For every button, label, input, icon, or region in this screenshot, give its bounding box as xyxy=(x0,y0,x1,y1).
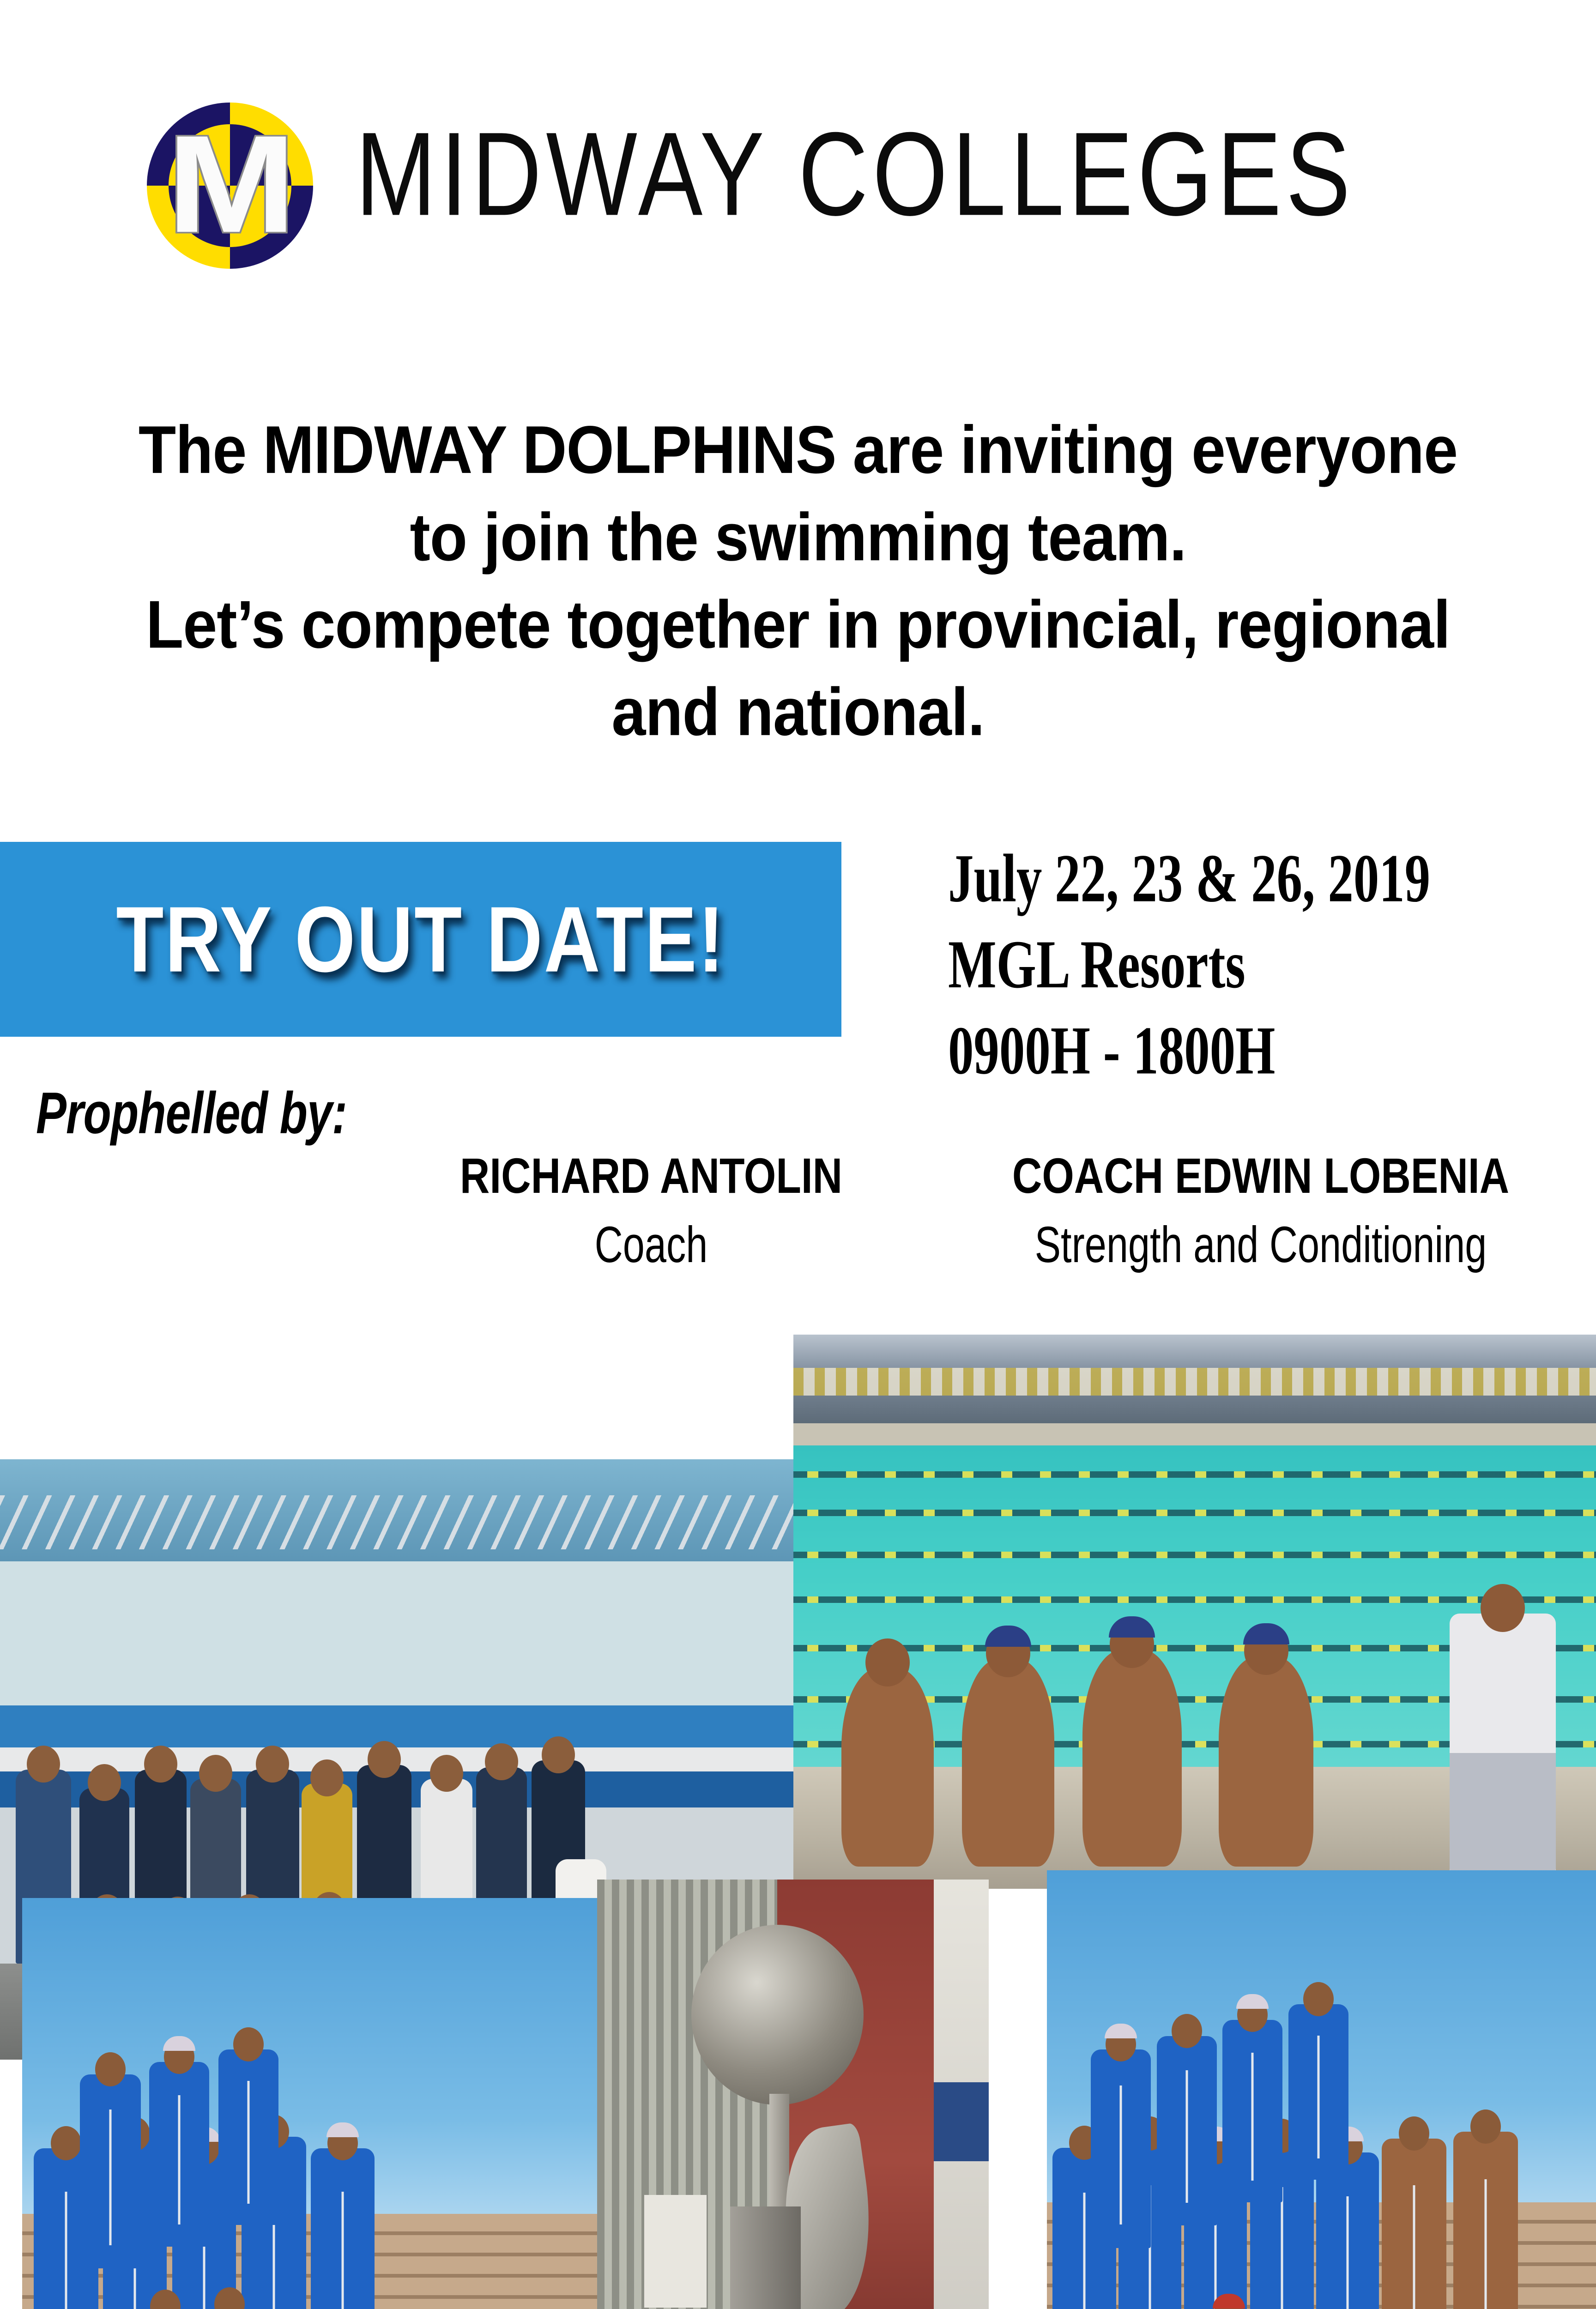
event-venue: MGL Resorts xyxy=(948,922,1485,1008)
team-member-head xyxy=(368,1741,401,1778)
headline-block: The MIDWAY DOLPHINS are inviting everyon… xyxy=(46,406,1550,756)
logo-letter-m: M xyxy=(147,103,313,267)
credit-person-1-role: Coach xyxy=(417,1216,885,1274)
swimmer-head xyxy=(865,1638,910,1686)
photo-team-blue-jackets-right xyxy=(1047,1870,1596,2309)
headline-line-3: Let’s compete together in provincial, re… xyxy=(46,581,1550,668)
coach-pants xyxy=(1450,1753,1556,1872)
team-member-head xyxy=(199,1755,232,1792)
team-member-jacket xyxy=(311,2148,375,2309)
credit-person-1: RICHARD ANTOLIN Coach xyxy=(397,1151,905,1269)
team-member-head xyxy=(144,1746,177,1783)
coach-figure xyxy=(1450,1614,1556,1872)
coach-head xyxy=(1481,1584,1525,1632)
team-member-jacket xyxy=(80,2074,141,2268)
pool-lane-rope xyxy=(793,1596,1596,1603)
pool-pennant-flags xyxy=(793,1368,1596,1396)
photo-team-blue-jackets-left xyxy=(22,1898,599,2309)
team-member-jacket xyxy=(218,2049,278,2225)
headline-line-4: and national. xyxy=(46,669,1550,756)
swimmer-figure xyxy=(1453,2132,1518,2309)
team-member-jacket xyxy=(149,2062,209,2247)
team-member-head xyxy=(95,2052,126,2086)
photo-collage xyxy=(0,1321,1596,2309)
team-member-head xyxy=(1303,1982,1334,2016)
prophelled-by-label: Prophelled by: xyxy=(36,1084,347,1143)
team-member-head xyxy=(542,1736,575,1773)
team-member-head xyxy=(256,1746,289,1783)
photo-swimmers-at-pool xyxy=(793,1335,1596,1889)
team-member-head xyxy=(430,1755,463,1792)
pool-lane-rope xyxy=(793,1510,1596,1516)
wall-stripe xyxy=(0,1705,793,1747)
pool-lane-rope xyxy=(793,1552,1596,1558)
team-member-jacket xyxy=(1157,2036,1217,2225)
swimmer-figure xyxy=(841,1668,934,1867)
trophy-plaque xyxy=(730,2206,801,2309)
swimmer-figure xyxy=(1082,1650,1182,1867)
midway-colleges-logo-icon: M xyxy=(147,103,313,269)
team-member-head xyxy=(27,1746,60,1783)
credit-person-1-name: RICHARD ANTOLIN xyxy=(415,1148,888,1204)
pool-far-deck xyxy=(793,1423,1596,1445)
swimmer-figure xyxy=(962,1659,1054,1867)
team-member-jacket xyxy=(1091,2049,1151,2248)
team-member-head xyxy=(1399,2116,1429,2151)
credit-person-2: COACH EDWIN LOBENIA Strength and Conditi… xyxy=(933,1151,1589,1269)
team-member-jacket xyxy=(1222,2020,1282,2202)
team-member-head xyxy=(88,1764,121,1801)
trophy-certificate-card xyxy=(644,2195,707,2308)
team-member-head xyxy=(51,2126,81,2160)
credit-person-2-name: COACH EDWIN LOBENIA xyxy=(956,1148,1566,1204)
trophy-disc xyxy=(691,1925,864,2105)
tryout-date-label: TRY OUT DATE! xyxy=(12,826,828,1052)
wall-stripe xyxy=(934,2082,989,2161)
team-member-jacket xyxy=(1288,2004,1348,2180)
headline-line-1: The MIDWAY DOLPHINS are inviting everyon… xyxy=(46,406,1550,494)
event-time: 0900H - 1800H xyxy=(948,1008,1485,1094)
tryout-date-banner: TRY OUT DATE! xyxy=(0,842,841,1037)
brand-title: MIDWAY COLLEGES xyxy=(356,109,1420,240)
photo-prisaa-trophy xyxy=(597,1880,989,2309)
event-details-block: July 22, 23 & 26, 2019 MGL Resorts 0900H… xyxy=(948,836,1485,1094)
team-member-head xyxy=(1470,2110,1501,2144)
headline-line-2: to join the swimming team. xyxy=(46,494,1550,581)
roof-truss xyxy=(0,1495,793,1549)
credit-person-2-role: Strength and Conditioning xyxy=(959,1216,1562,1274)
swimmer-figure xyxy=(1219,1656,1313,1867)
team-member-head xyxy=(310,1759,344,1796)
team-member-head xyxy=(1172,2014,1202,2048)
poster-header: M MIDWAY COLLEGES xyxy=(0,0,1596,323)
team-member-head xyxy=(485,1743,518,1780)
swimmer-figure xyxy=(1382,2139,1446,2309)
team-member-head xyxy=(233,2027,264,2061)
event-date: July 22, 23 & 26, 2019 xyxy=(948,836,1485,922)
pool-lane-rope xyxy=(793,1471,1596,1478)
